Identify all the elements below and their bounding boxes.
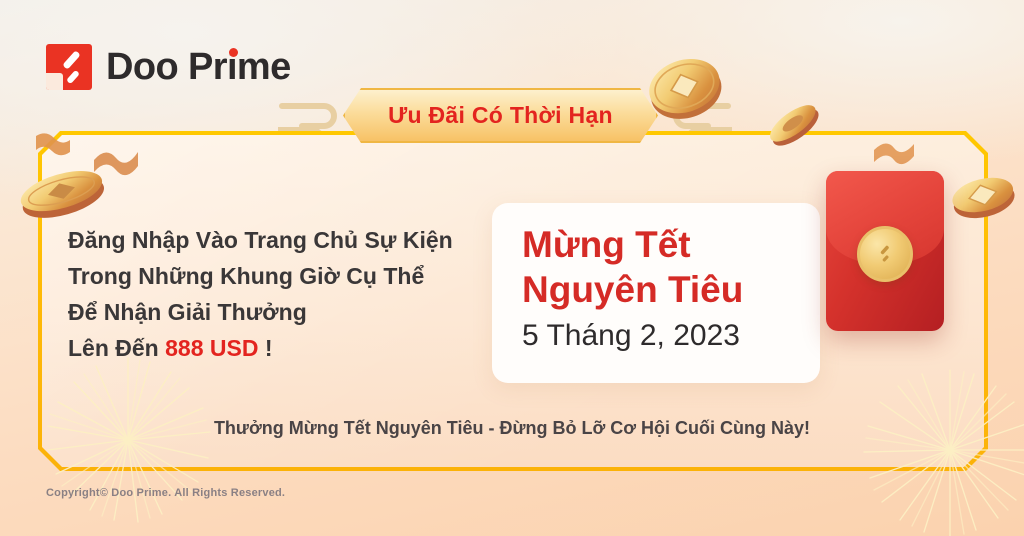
promo-line-1: Đăng Nhập Vào Trang Chủ Sự Kiện <box>68 222 498 258</box>
event-title-line-1: Mừng Tết <box>522 222 743 267</box>
event-title: Mừng Tết Nguyên Tiêu <box>522 222 743 312</box>
brand-logo[interactable]: Doo Prime <box>46 44 291 90</box>
promo-line-3: Để Nhận Giải Thưởng <box>68 294 498 330</box>
gold-coin-seal-icon <box>857 226 913 282</box>
limited-time-ribbon: Ưu Đãi Có Thời Hạn <box>343 88 658 143</box>
brand-name: Doo Prime <box>106 46 291 89</box>
doo-prime-pen-mark-icon <box>46 44 92 90</box>
copyright-notice: Copyright© Doo Prime. All Rights Reserve… <box>46 487 285 499</box>
brand-name-text: Doo Prime <box>106 46 291 88</box>
promo-amount-prefix: Lên Đến <box>68 335 165 361</box>
red-envelope-icon <box>826 171 944 331</box>
event-title-line-2: Nguyên Tiêu <box>522 267 743 312</box>
brand-accent-dot-icon <box>229 48 238 57</box>
promo-copy: Đăng Nhập Vào Trang Chủ Sự Kiện Trong Nh… <box>68 222 498 366</box>
promo-amount-suffix: ! <box>258 335 272 361</box>
promo-line-amount: Lên Đến 888 USD ! <box>68 330 498 366</box>
event-date: 5 Tháng 2, 2023 <box>522 319 740 353</box>
promo-amount-value: 888 USD <box>165 335 258 361</box>
ribbon-label: Ưu Đãi Có Thời Hạn <box>388 102 613 129</box>
event-tagline: Thưởng Mừng Tết Nguyên Tiêu - Đừng Bỏ Lỡ… <box>0 418 1024 439</box>
seal-pen-mark-icon <box>874 243 896 265</box>
promo-line-2: Trong Những Khung Giờ Cụ Thể <box>68 258 498 294</box>
event-info-card: Mừng Tết Nguyên Tiêu 5 Tháng 2, 2023 <box>492 203 820 383</box>
